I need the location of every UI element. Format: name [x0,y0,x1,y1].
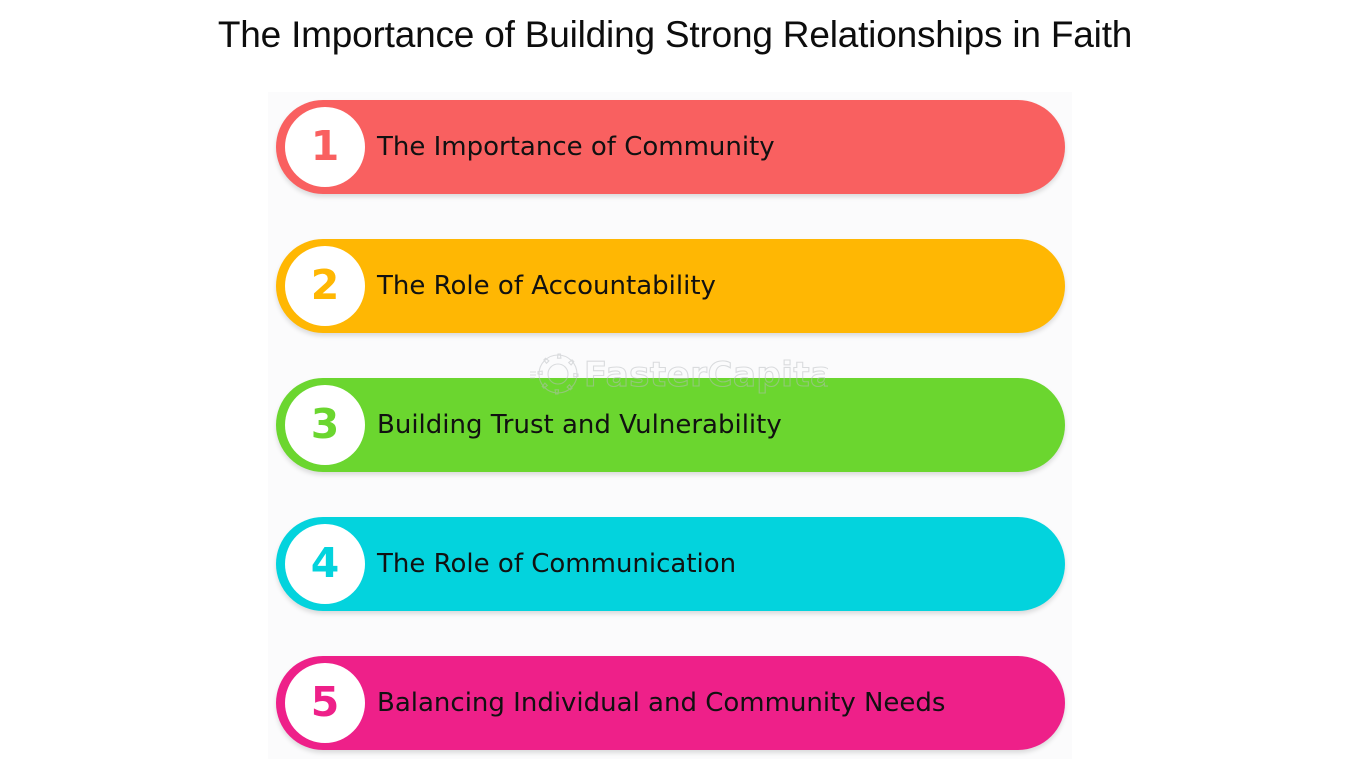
step-label: Balancing Individual and Community Needs [377,656,945,750]
step-number-badge: 5 [285,663,365,743]
step-number: 3 [311,404,340,445]
slide-canvas: The Importance of Building Strong Relati… [0,0,1350,759]
step-number: 1 [311,126,340,167]
numbered-step-list: 1 The Importance of Community 2 The Role… [268,92,1072,759]
step-number: 5 [311,682,340,723]
step-number-badge: 4 [285,524,365,604]
list-item[interactable]: 3 Building Trust and Vulnerability [276,378,1065,472]
step-number: 4 [311,543,340,584]
list-item[interactable]: 4 The Role of Communication [276,517,1065,611]
list-item[interactable]: 1 The Importance of Community [276,100,1065,194]
list-item[interactable]: 2 The Role of Accountability [276,239,1065,333]
step-label: The Role of Communication [377,517,736,611]
step-label: The Importance of Community [377,100,775,194]
step-number: 2 [311,265,340,306]
step-label: Building Trust and Vulnerability [377,378,782,472]
step-number-badge: 2 [285,246,365,326]
step-number-badge: 3 [285,385,365,465]
step-number-badge: 1 [285,107,365,187]
list-item[interactable]: 5 Balancing Individual and Community Nee… [276,656,1065,750]
step-label: The Role of Accountability [377,239,716,333]
page-title: The Importance of Building Strong Relati… [0,12,1350,58]
